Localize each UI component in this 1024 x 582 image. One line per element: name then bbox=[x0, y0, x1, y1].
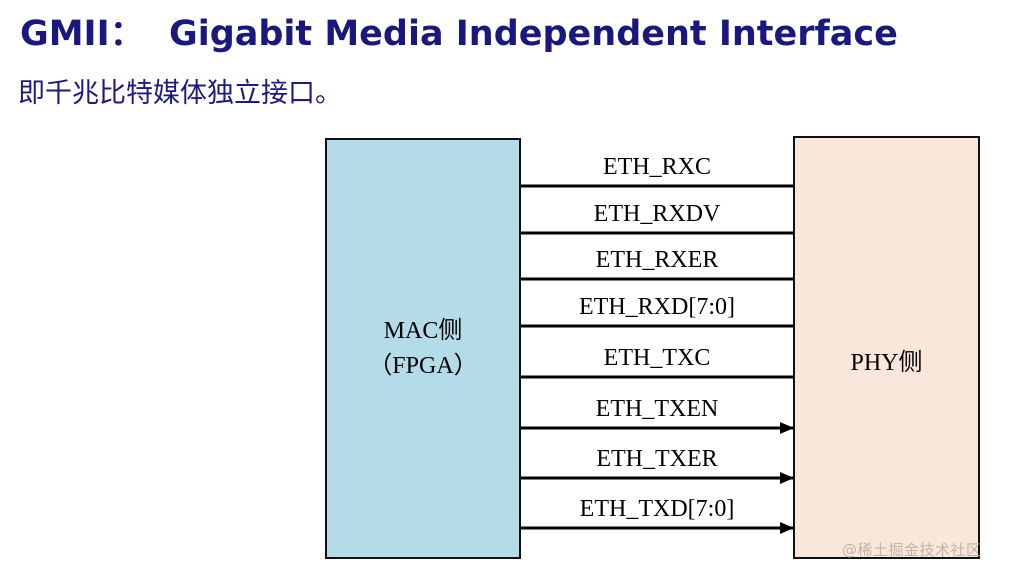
watermark: @稀土掘金技术社区 bbox=[842, 539, 982, 560]
phy-side-block: PHY侧 bbox=[793, 136, 980, 559]
signal-label: ETH_RXER bbox=[596, 248, 719, 272]
signal-label: ETH_TXC bbox=[604, 346, 711, 370]
signal-label: ETH_TXD[7:0] bbox=[580, 497, 735, 521]
signal-label: ETH_RXDV bbox=[594, 202, 721, 226]
mac-side-block: MAC侧 （FPGA） bbox=[325, 138, 521, 559]
mac-side-label: MAC侧 （FPGA） bbox=[368, 314, 477, 382]
signal-label: ETH_TXER bbox=[596, 447, 717, 471]
signal-label: ETH_RXC bbox=[603, 155, 711, 179]
signal-label: ETH_TXEN bbox=[596, 397, 719, 421]
slide-canvas: GMII： Gigabit Media Independent Interfac… bbox=[0, 0, 1024, 582]
signal-label: ETH_RXD[7:0] bbox=[579, 295, 735, 319]
phy-side-label: PHY侧 bbox=[850, 346, 922, 380]
